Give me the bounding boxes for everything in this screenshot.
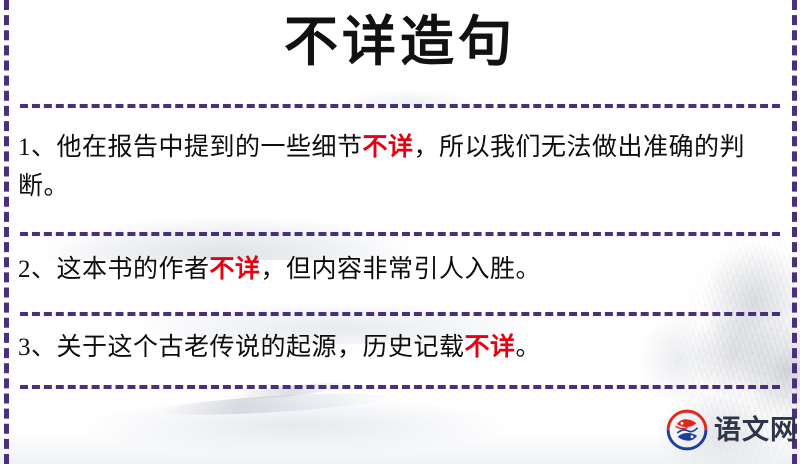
sentence-text-before-1: 他在报告中提到的一些细节 — [57, 134, 363, 161]
sentence-text-after-3: 。 — [516, 334, 542, 361]
dashed-separator-1 — [20, 104, 780, 108]
dashed-separator-4 — [20, 385, 780, 389]
keyword-highlight-3: 不详 — [465, 334, 516, 361]
sentence-index-1: 1、 — [18, 134, 57, 161]
slide-page: 不详造句 1、他在报告中提到的一些细节不详，所以我们无法做出准确的判断。 2、这… — [0, 0, 800, 464]
keyword-highlight-2: 不详 — [210, 256, 261, 283]
site-logo-text: 语文网 — [714, 417, 798, 444]
dashed-separator-3 — [20, 312, 780, 316]
site-logo[interactable]: 语文网 — [666, 406, 786, 454]
sentence-item-3: 3、关于这个古老传说的起源，历史记载不详。 — [18, 328, 780, 367]
dashed-separator-2 — [20, 232, 780, 236]
sentence-text-before-3: 关于这个古老传说的起源，历史记载 — [57, 334, 465, 361]
yuwen-fish-circle-icon — [666, 409, 708, 451]
content-area: 不详造句 1、他在报告中提到的一些细节不详，所以我们无法做出准确的判断。 2、这… — [0, 0, 800, 464]
sentence-item-1: 1、他在报告中提到的一些细节不详，所以我们无法做出准确的判断。 — [18, 128, 780, 206]
page-title: 不详造句 — [0, 12, 800, 71]
sentence-text-before-2: 这本书的作者 — [57, 256, 210, 283]
sentence-index-3: 3、 — [18, 334, 57, 361]
keyword-highlight-1: 不详 — [363, 134, 414, 161]
sentence-item-2: 2、这本书的作者不详，但内容非常引人入胜。 — [18, 250, 780, 289]
sentence-index-2: 2、 — [18, 256, 57, 283]
sentence-text-after-2: ，但内容非常引人入胜。 — [261, 256, 542, 283]
